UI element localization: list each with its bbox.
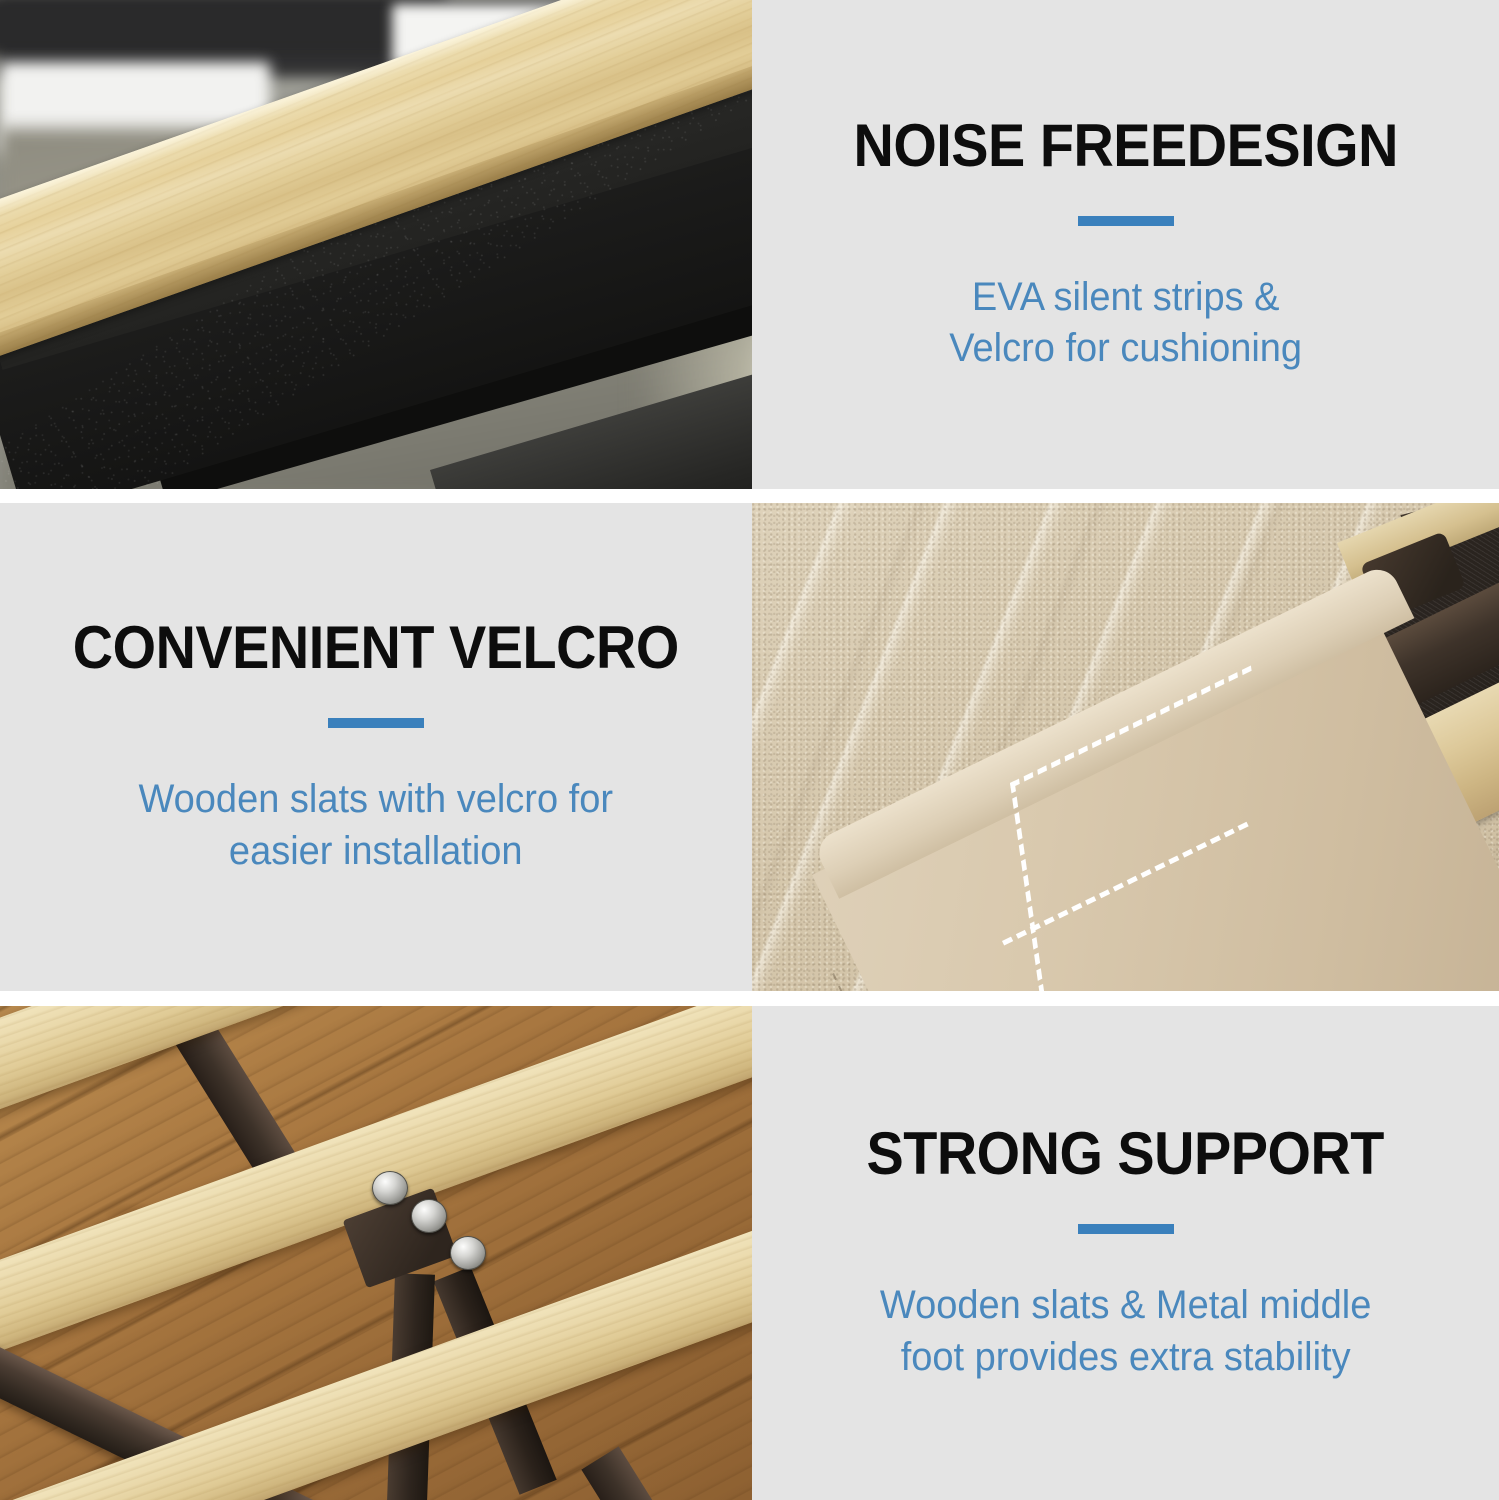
feature-panel-convenient-velcro: CONVENIENT VELCRO Wooden slats with velc… — [0, 503, 1499, 991]
panel-body: Wooden slats & Metal middle foot provide… — [880, 1280, 1371, 1382]
panel-body: EVA silent strips & Velcro for cushionin… — [949, 272, 1302, 374]
accent-divider-bar — [1078, 216, 1174, 226]
hex-bolt — [372, 1171, 408, 1205]
text-block-strong-support: STRONG SUPPORT Wooden slats & Metal midd… — [752, 1006, 1499, 1500]
panel-body-line: foot provides extra stability — [880, 1332, 1371, 1383]
panel-body-line: Wooden slats & Metal middle — [880, 1280, 1371, 1331]
photo-bed-corner-velcro-strap — [752, 503, 1499, 991]
feature-panel-strong-support: STRONG SUPPORT Wooden slats & Metal midd… — [0, 1006, 1499, 1500]
hex-bolt — [411, 1199, 447, 1233]
panel-body: Wooden slats with velcro for easier inst… — [139, 774, 614, 876]
panel-body-line: easier installation — [139, 826, 614, 877]
product-feature-infographic: NOISE FREEDESIGN EVA silent strips & Vel… — [0, 0, 1499, 1500]
panel-title: NOISE FREEDESIGN — [853, 115, 1397, 176]
panel-body-line: EVA silent strips & — [949, 272, 1302, 323]
panel-title: CONVENIENT VELCRO — [73, 617, 679, 678]
photo-slats-metal-crossbar-bolts — [0, 1006, 752, 1500]
panel-body-line: Wooden slats with velcro for — [139, 774, 614, 825]
text-block-convenient-velcro: CONVENIENT VELCRO Wooden slats with velc… — [0, 503, 752, 991]
accent-divider-bar — [328, 718, 424, 728]
blurred-dark-bar — [0, 0, 446, 56]
panel-title: STRONG SUPPORT — [867, 1123, 1384, 1184]
hex-bolt — [450, 1236, 486, 1270]
panel-body-line: Velcro for cushioning — [949, 323, 1302, 374]
photo-wooden-slat-on-black-metal-rail — [0, 0, 752, 489]
text-block-noise-free-design: NOISE FREEDESIGN EVA silent strips & Vel… — [752, 0, 1499, 489]
feature-panel-noise-free-design: NOISE FREEDESIGN EVA silent strips & Vel… — [0, 0, 1499, 489]
accent-divider-bar — [1078, 1224, 1174, 1234]
